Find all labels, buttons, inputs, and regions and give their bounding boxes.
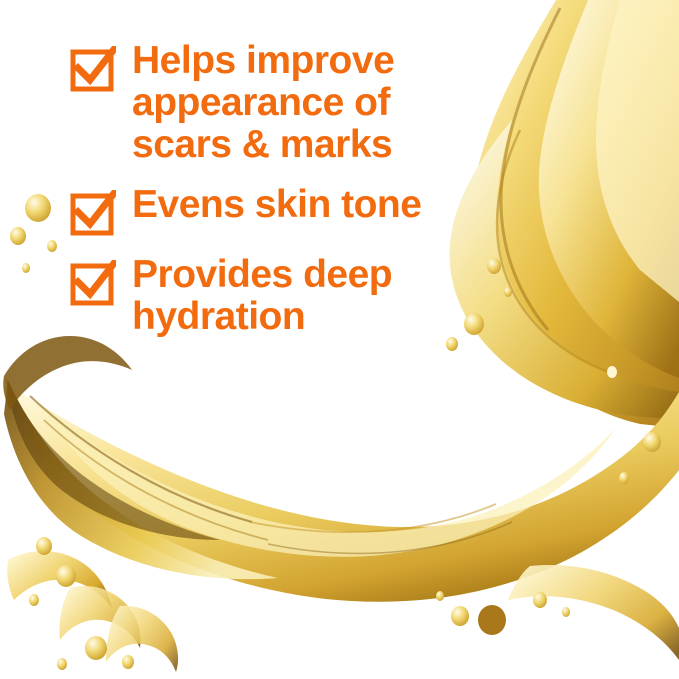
oil-droplet — [85, 636, 107, 660]
benefit-item: Evens skin tone — [70, 184, 540, 236]
oil-droplet — [25, 194, 51, 222]
oil-droplet — [122, 655, 134, 669]
product-benefit-image: Helps improve appearance of scars & mark… — [0, 0, 679, 679]
oil-droplet — [29, 594, 39, 606]
oil-droplet — [47, 240, 57, 252]
benefit-item: Helps improve appearance of scars & mark… — [70, 40, 540, 166]
oil-droplet — [451, 606, 469, 626]
oil-droplet — [57, 658, 67, 670]
checkbox-checked-icon — [70, 260, 116, 306]
oil-droplet — [619, 472, 629, 484]
benefits-list: Helps improve appearance of scars & mark… — [70, 40, 540, 352]
oil-droplet — [436, 591, 444, 601]
oil-droplet-dark — [478, 605, 506, 635]
benefit-item: Provides deep hydration — [70, 254, 540, 338]
oil-droplet — [607, 366, 617, 378]
oil-droplet — [22, 263, 30, 273]
oil-droplet — [56, 565, 76, 587]
oil-droplet — [562, 607, 570, 617]
oil-droplet — [643, 432, 661, 452]
oil-splash-crown-left-3 — [106, 606, 178, 672]
oil-tail-right — [508, 565, 679, 660]
benefit-text: Evens skin tone — [132, 184, 421, 226]
checkbox-checked-icon — [70, 46, 116, 92]
benefit-text: Helps improve appearance of scars & mark… — [132, 40, 394, 166]
oil-droplet — [10, 227, 26, 245]
oil-droplet — [533, 592, 547, 608]
checkbox-checked-icon — [70, 190, 116, 236]
benefit-text: Provides deep hydration — [132, 254, 392, 338]
oil-droplet — [36, 537, 52, 555]
